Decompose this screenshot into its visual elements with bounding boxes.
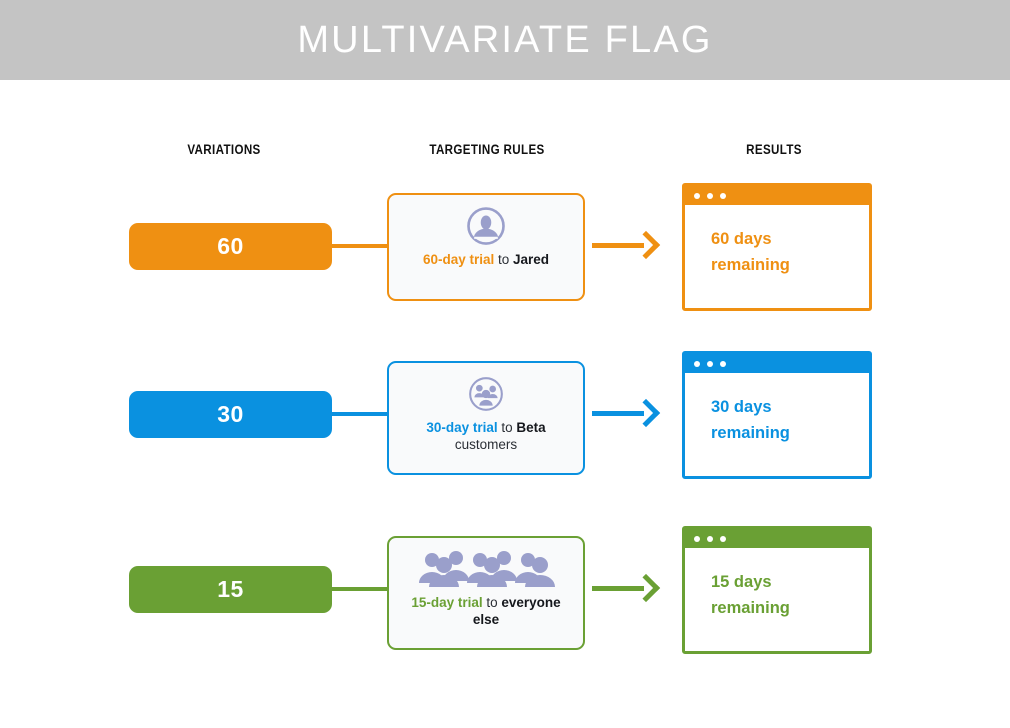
rule-accent: 15-day trial — [411, 595, 482, 610]
rule-target: Jared — [513, 252, 549, 267]
rule-accent: 60-day trial — [423, 252, 494, 267]
window-dot-icon — [694, 361, 700, 367]
window-dot-icon — [694, 536, 700, 542]
flag-row: 15 15-day trial to everyone else — [0, 503, 1010, 678]
people-group-circle-icon — [466, 372, 506, 416]
crowd-icon — [416, 547, 556, 591]
window-body: 60 days remaining — [685, 205, 869, 278]
window-dot-icon — [707, 193, 713, 199]
rule-middle: to — [498, 420, 517, 435]
targeting-rule-text: 60-day trial to Jared — [415, 251, 557, 268]
result-text: 30 days remaining — [711, 394, 869, 446]
window-dot-icon — [720, 361, 726, 367]
window-dot-icon — [720, 536, 726, 542]
targeting-rule-text: 15-day trial to everyone else — [389, 594, 583, 628]
window-title-bar — [685, 186, 869, 205]
flag-row: 60 60-day trial to Jared 60 days remaini… — [0, 160, 1010, 335]
window-title-bar — [685, 529, 869, 548]
window-dot-icon — [707, 536, 713, 542]
flag-row: 30 30-day trial to Beta customers — [0, 328, 1010, 503]
column-header-variations: VARIATIONS — [138, 142, 310, 157]
targeting-rule-card[interactable]: 15-day trial to everyone else — [387, 536, 585, 650]
variation-pill[interactable]: 15 — [129, 566, 332, 613]
arrow-right-icon — [592, 575, 658, 601]
variation-pill[interactable]: 60 — [129, 223, 332, 270]
rule-target: Beta — [516, 420, 545, 435]
result-window-card: 30 days remaining — [682, 351, 872, 479]
targeting-rule-card[interactable]: 30-day trial to Beta customers — [387, 361, 585, 475]
variation-value: 15 — [217, 576, 244, 603]
page-title: MULTIVARIATE FLAG — [297, 19, 712, 62]
variation-value: 60 — [217, 233, 244, 260]
window-body: 30 days remaining — [685, 373, 869, 446]
result-window-card: 60 days remaining — [682, 183, 872, 311]
connector-line — [330, 244, 390, 248]
result-window-card: 15 days remaining — [682, 526, 872, 654]
targeting-rule-text: 30-day trial to Beta customers — [389, 419, 583, 453]
rule-tail: customers — [455, 437, 517, 452]
rule-accent: 30-day trial — [426, 420, 497, 435]
arrow-right-icon — [592, 232, 658, 258]
page-banner: MULTIVARIATE FLAG — [0, 0, 1010, 80]
rule-middle: to — [494, 252, 513, 267]
single-person-icon — [465, 204, 507, 248]
column-header-targeting-rules: TARGETING RULES — [401, 142, 573, 157]
arrow-right-icon — [592, 400, 658, 426]
window-body: 15 days remaining — [685, 548, 869, 621]
rule-middle: to — [483, 595, 502, 610]
connector-line — [330, 412, 390, 416]
window-dot-icon — [707, 361, 713, 367]
result-text: 15 days remaining — [711, 569, 869, 621]
result-text: 60 days remaining — [711, 226, 869, 278]
window-dot-icon — [694, 193, 700, 199]
variation-pill[interactable]: 30 — [129, 391, 332, 438]
window-dot-icon — [720, 193, 726, 199]
column-header-results: RESULTS — [688, 142, 860, 157]
variation-value: 30 — [217, 401, 244, 428]
connector-line — [330, 587, 390, 591]
targeting-rule-card[interactable]: 60-day trial to Jared — [387, 193, 585, 301]
window-title-bar — [685, 354, 869, 373]
